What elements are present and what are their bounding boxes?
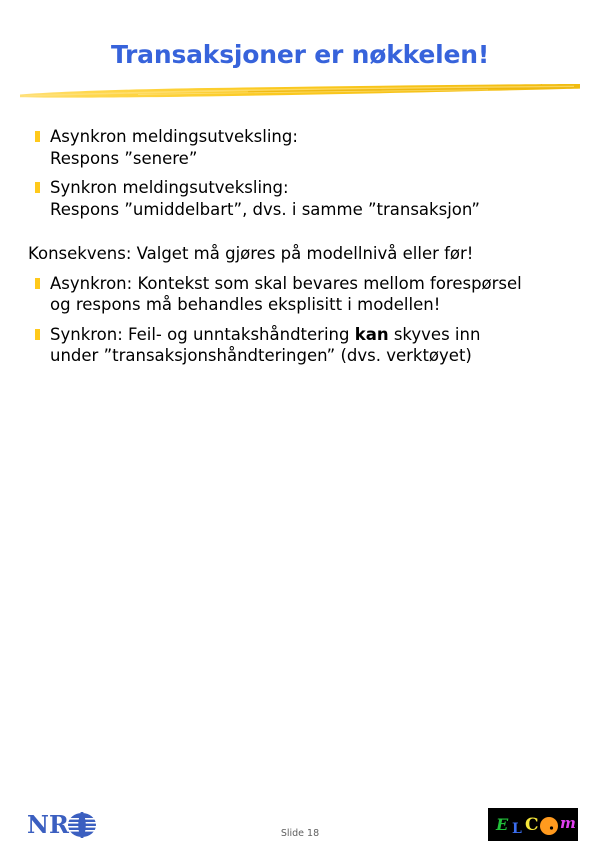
- list-item: Synkron meldingsutveksling: Respons ”umi…: [0, 177, 600, 220]
- list-item-line: Asynkron: Kontekst som skal bevares mell…: [50, 273, 600, 295]
- list-item: Synkron: Feil- og unntakshåndtering kan …: [0, 324, 600, 367]
- list-item: Asynkron: Kontekst som skal bevares mell…: [0, 273, 600, 316]
- elcom-letter-o: [540, 817, 558, 835]
- square-bullet-icon: [35, 278, 40, 289]
- elcom-letter-m: m: [560, 814, 576, 832]
- list-item-line: Asynkron meldingsutveksling:: [50, 126, 600, 148]
- title-underline-brushstroke: [18, 82, 582, 104]
- list-item-line: og respons må behandles eksplisitt i mod…: [50, 294, 600, 316]
- list-item-line: Synkron meldingsutveksling:: [50, 177, 600, 199]
- square-bullet-icon: [35, 131, 40, 142]
- slide-footer: NR Slide 18 E L C: [0, 400, 600, 450]
- consequence-line: Konsekvens: Valget må gjøres på modellni…: [0, 243, 600, 265]
- consequence-text: Konsekvens: Valget må gjøres på modellni…: [28, 243, 600, 265]
- body-content: Asynkron meldingsutveksling: Respons ”se…: [0, 126, 600, 367]
- list-item-line: Synkron: Feil- og unntakshåndtering kan …: [50, 324, 600, 346]
- slide-canvas: Transaksjoner er nøkkelen! Asynkron: [0, 0, 600, 450]
- square-bullet-icon: [35, 329, 40, 340]
- square-bullet-icon: [35, 182, 40, 193]
- list-item: Asynkron meldingsutveksling: Respons ”se…: [0, 126, 600, 169]
- elcom-logo: E L C m: [488, 808, 578, 841]
- title-block: Transaksjoner er nøkkelen!: [0, 40, 600, 70]
- list-item-line: Respons ”umiddelbart”, dvs. i samme ”tra…: [50, 199, 600, 221]
- elcom-letter-l: L: [512, 821, 522, 837]
- elcom-letter-e: E: [495, 815, 509, 834]
- list-item-line: Respons ”senere”: [50, 148, 600, 170]
- elcom-letter-c: C: [525, 815, 539, 835]
- page-title: Transaksjoner er nøkkelen!: [0, 40, 600, 70]
- list-item-line: under ”transaksjonshåndteringen” (dvs. v…: [50, 345, 600, 367]
